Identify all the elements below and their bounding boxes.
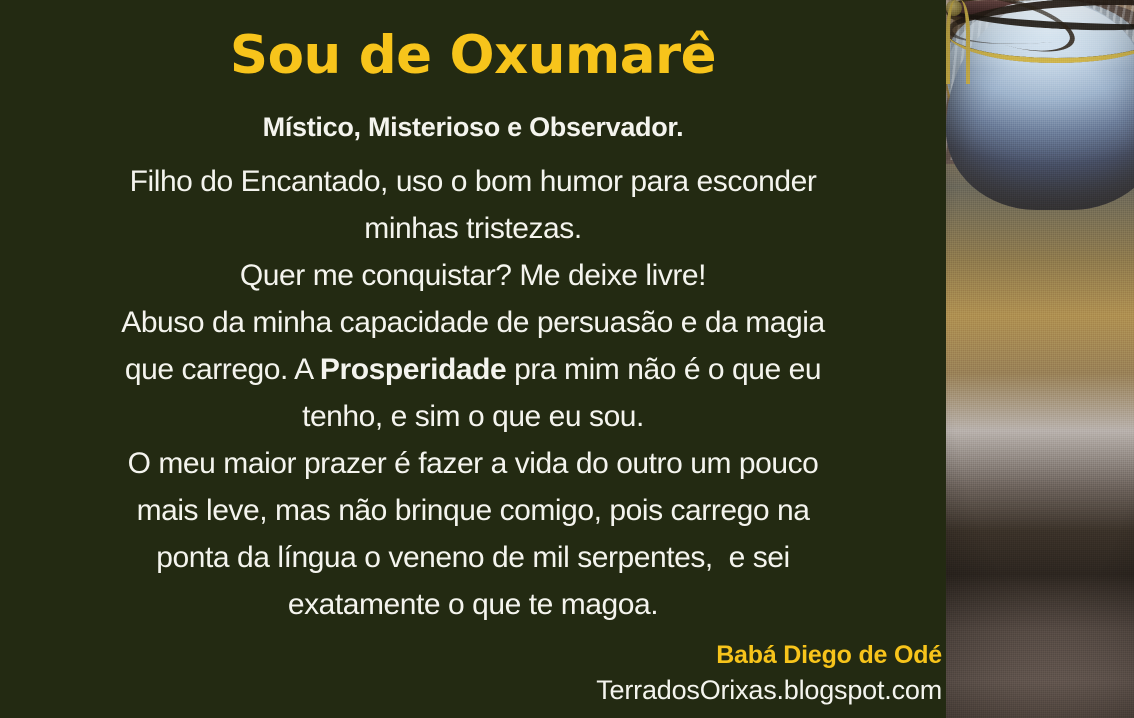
- poster-canvas: Sou de Oxumarê Místico, Misterioso e Obs…: [0, 0, 1134, 718]
- body-line: Abuso da minha capacidade de persuasão e…: [20, 299, 926, 346]
- body-line: minhas tristezas.: [20, 205, 926, 252]
- poster-body-text: Filho do Encantado, uso o bom humor para…: [20, 158, 926, 628]
- body-line-prefix: que carrego. A: [125, 353, 320, 386]
- attribution: Babá Diego de Odé TerradosOrixas.blogspo…: [0, 640, 946, 706]
- body-line: Filho do Encantado, uso o bom humor para…: [20, 158, 926, 205]
- body-line-with-emphasis: que carrego. A Prosperidade pra mim não …: [20, 346, 926, 393]
- body-line: ponta da língua o veneno de mil serpente…: [20, 534, 926, 581]
- body-line: tenho, e sim o que eu sou.: [20, 393, 926, 440]
- text-column: Sou de Oxumarê Místico, Misterioso e Obs…: [0, 0, 946, 718]
- photo-vignette: [946, 0, 1134, 718]
- body-line: mais leve, mas não brinque comigo, pois …: [20, 487, 926, 534]
- page-title: Sou de Oxumarê: [0, 26, 946, 86]
- body-line-suffix: pra mim não é o que eu: [506, 353, 821, 386]
- emphasis-prosperidade: Prosperidade: [320, 353, 506, 386]
- body-line: Quer me conquistar? Me deixe livre!: [20, 252, 926, 299]
- orixa-photo: [946, 0, 1134, 718]
- body-line: exatamente o que te magoa.: [20, 581, 926, 628]
- body-line: O meu maior prazer é fazer a vida do out…: [20, 440, 926, 487]
- blog-url: TerradosOrixas.blogspot.com: [0, 674, 946, 706]
- author-credit: Babá Diego de Odé: [0, 640, 946, 670]
- poster-subtitle: Místico, Misterioso e Observador.: [0, 111, 946, 143]
